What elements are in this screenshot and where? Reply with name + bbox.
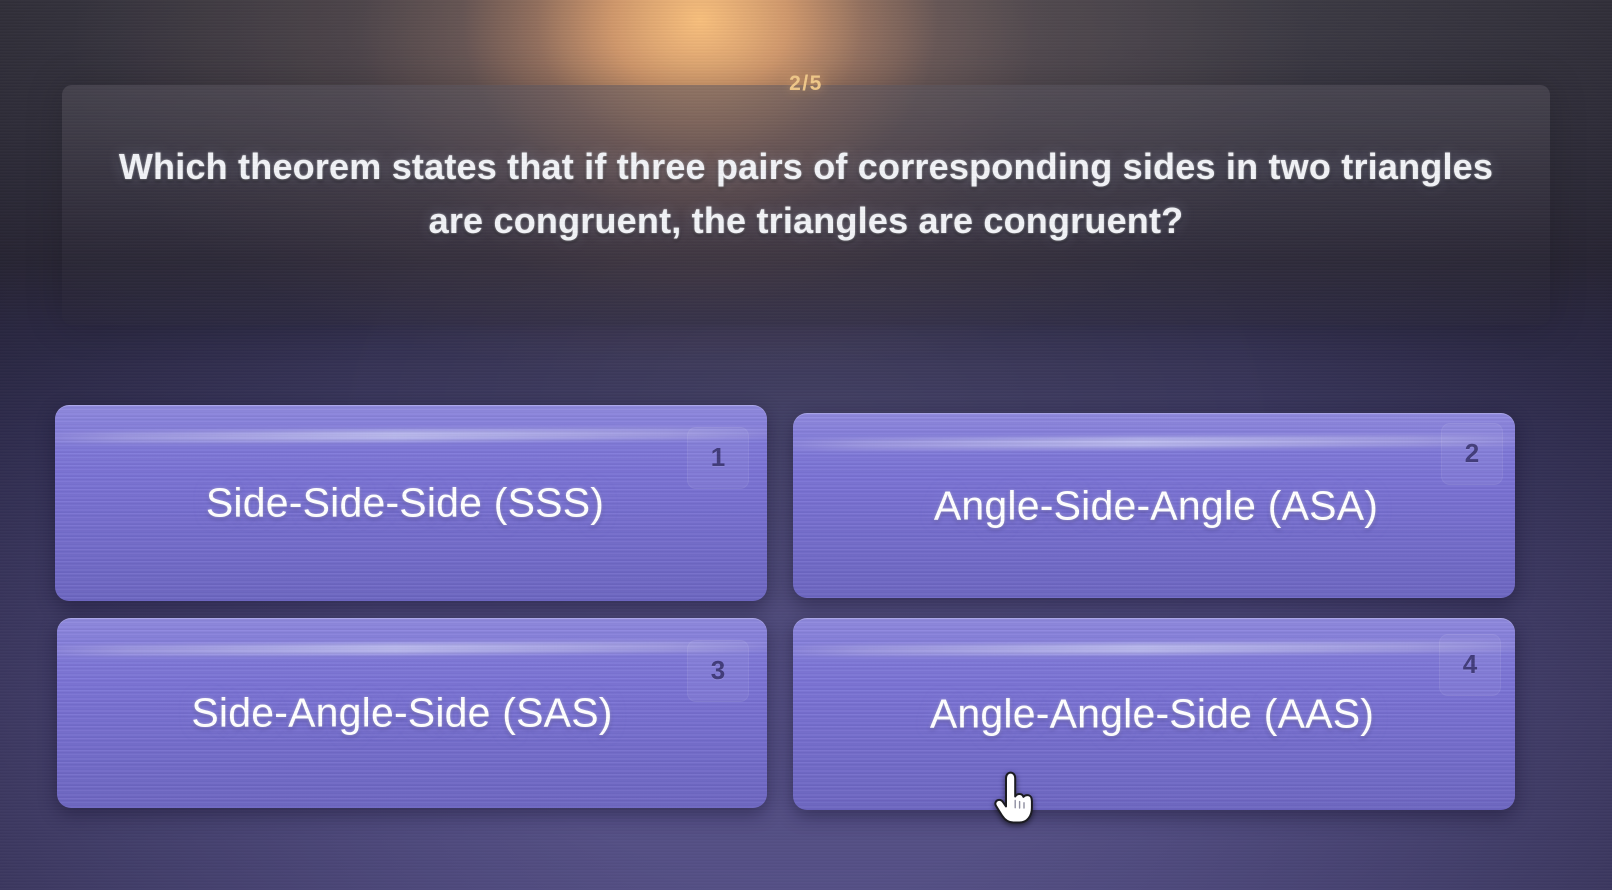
answer-key-label-2: 2: [1441, 438, 1503, 469]
answer-key-badge-4: 4: [1439, 634, 1501, 696]
answer-label-1: Side-Side-Side (SSS): [55, 480, 761, 527]
answer-key-label-1: 1: [687, 442, 749, 473]
answer-key-badge-1: 1: [687, 427, 749, 489]
answer-key-badge-3: 3: [687, 640, 749, 702]
question-counter: 2/5: [0, 72, 1612, 96]
answer-key-label-3: 3: [687, 655, 749, 686]
answer-grid: 1 Side-Side-Side (SSS) 2 Angle-Side-Angl…: [55, 405, 1520, 810]
answer-label-3: Side-Angle-Side (SAS): [57, 690, 757, 737]
answer-option-1[interactable]: 1 Side-Side-Side (SSS): [55, 405, 767, 601]
answer-option-2[interactable]: 2 Angle-Side-Angle (ASA): [793, 413, 1515, 598]
answer-key-badge-2: 2: [1441, 423, 1503, 485]
answer-option-4[interactable]: 4 Angle-Angle-Side (AAS): [793, 618, 1515, 810]
answer-option-3[interactable]: 3 Side-Angle-Side (SAS): [57, 618, 767, 808]
question-text: Which theorem states that if three pairs…: [110, 140, 1502, 248]
answer-label-4: Angle-Angle-Side (AAS): [793, 691, 1513, 738]
answer-label-2: Angle-Side-Angle (ASA): [795, 482, 1515, 529]
quiz-screen: 2/5 Which theorem states that if three p…: [0, 0, 1612, 890]
answer-key-label-4: 4: [1439, 649, 1501, 680]
